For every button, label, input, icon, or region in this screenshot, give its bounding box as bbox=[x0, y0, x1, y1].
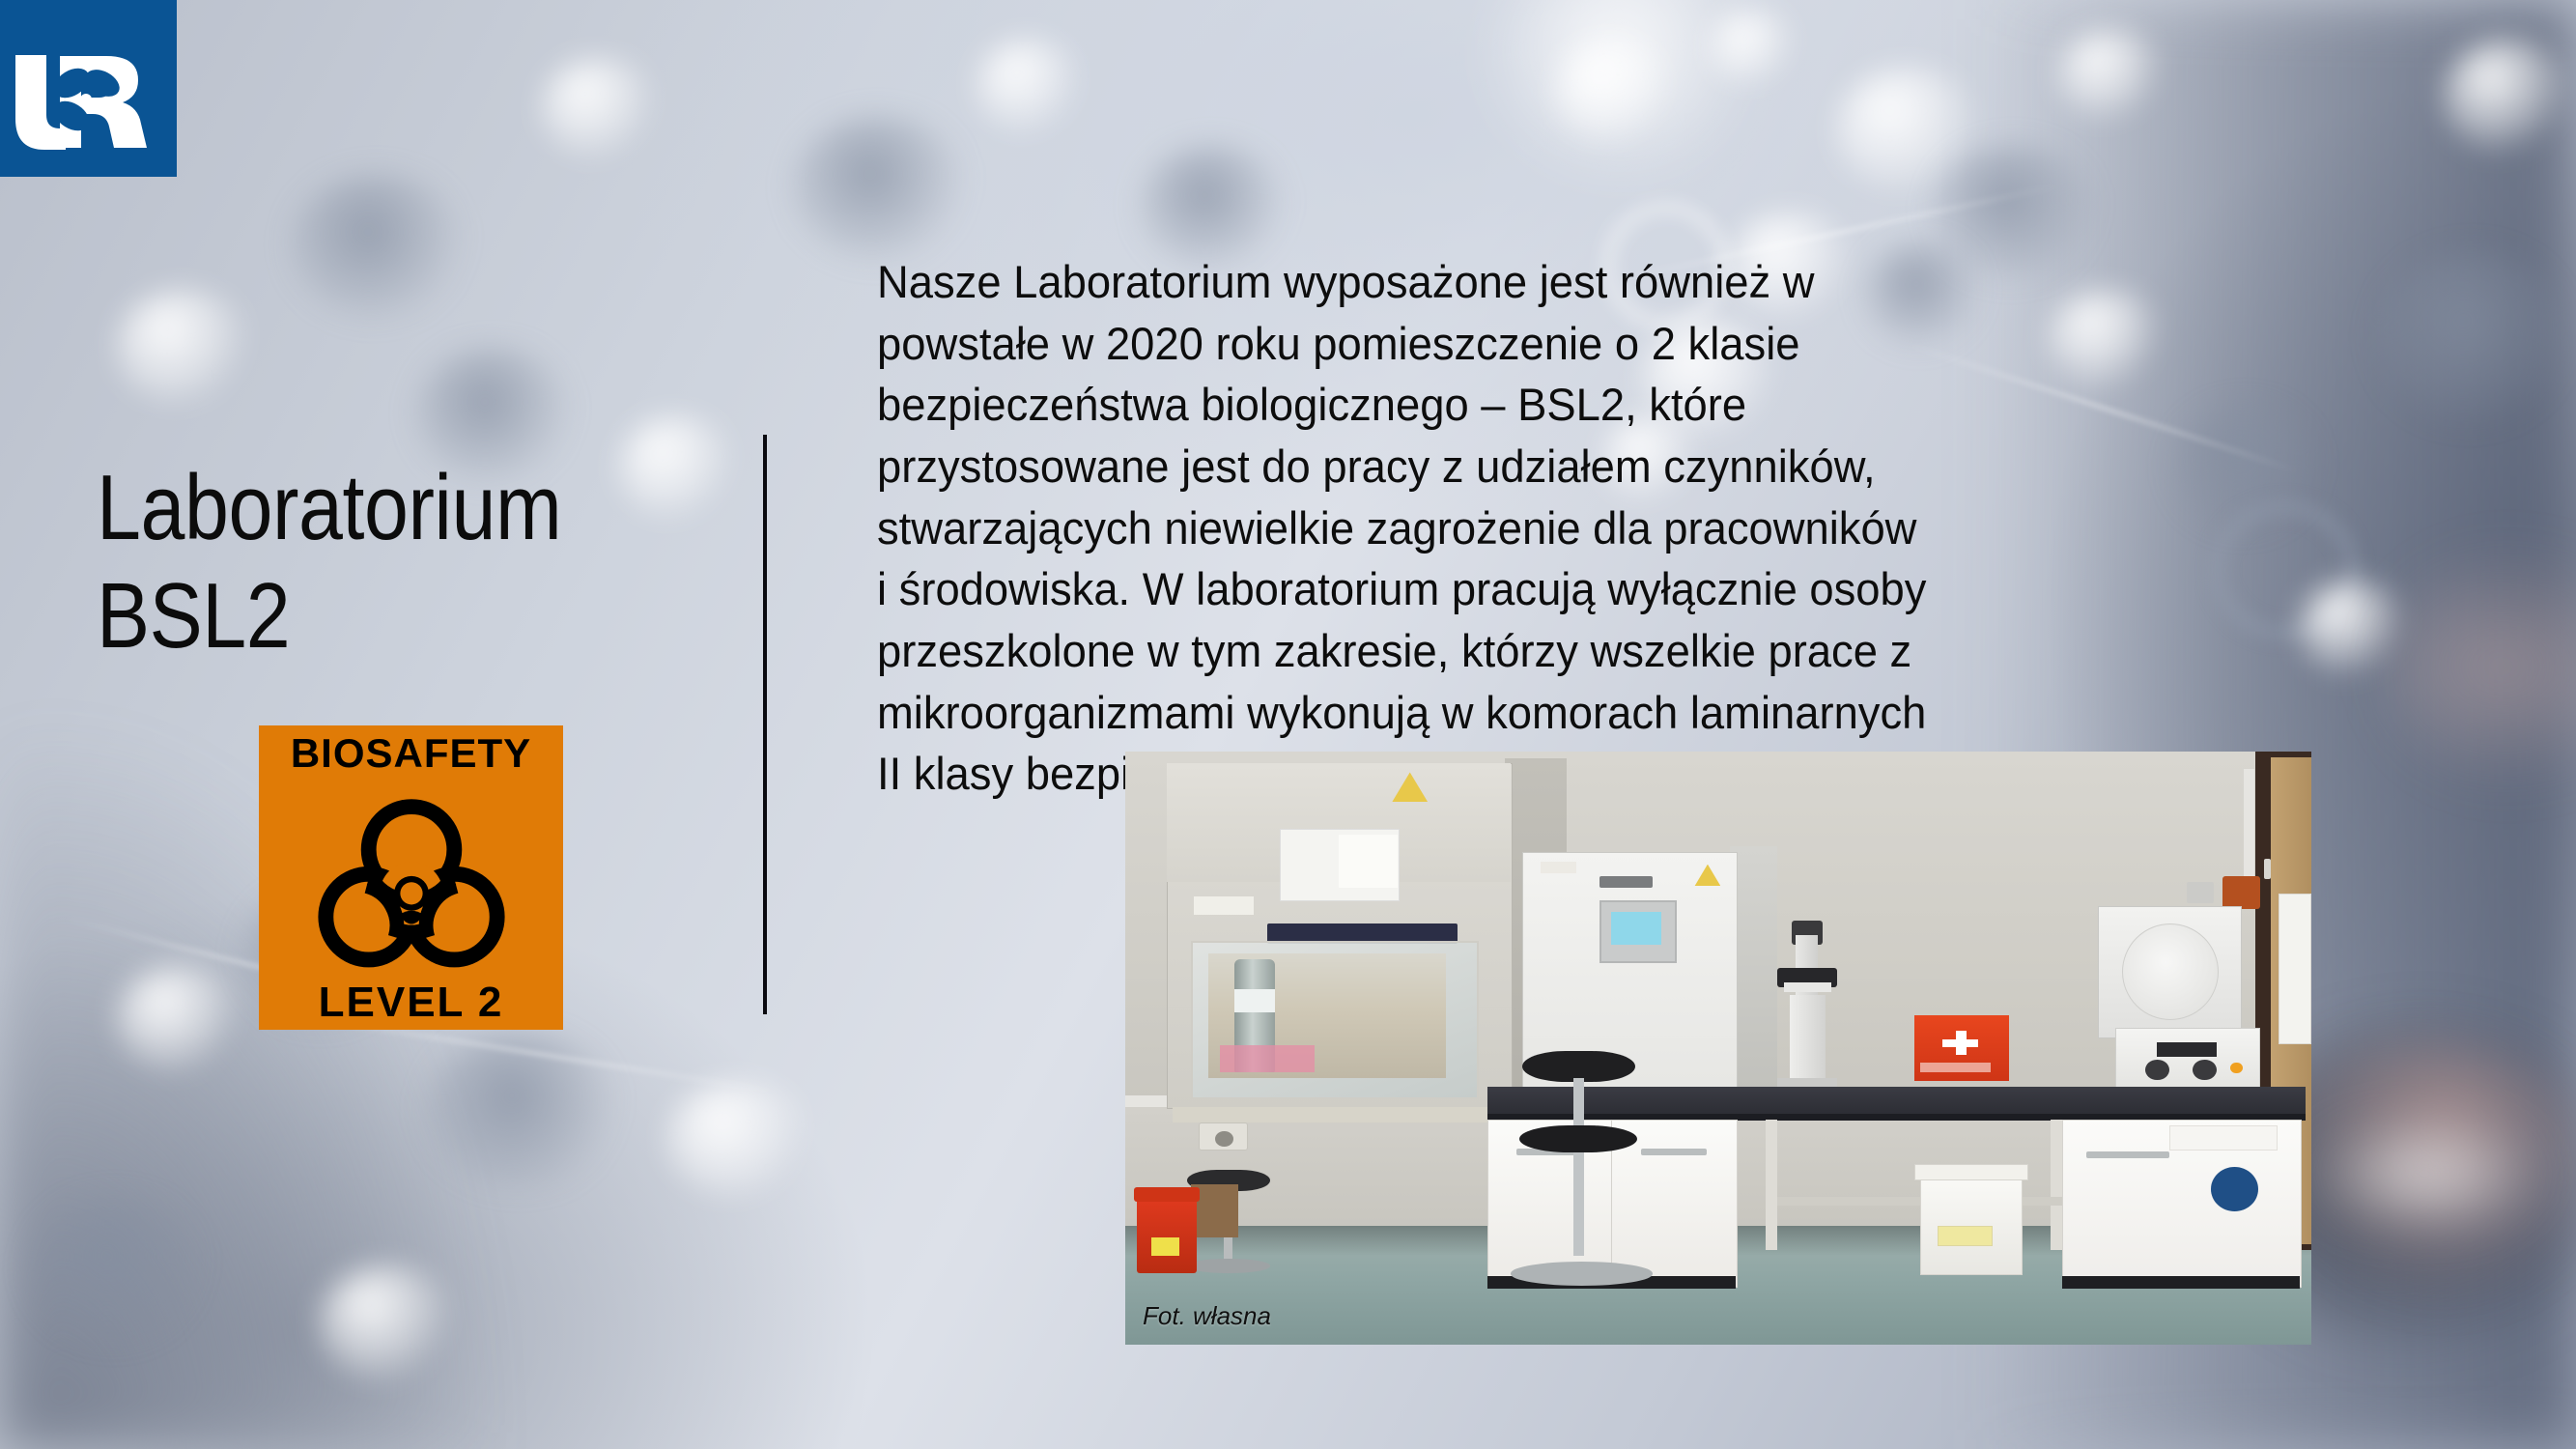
page-title: Laboratorium BSL2 bbox=[97, 454, 715, 671]
biosafety-sign-bottom-label: LEVEL 2 bbox=[319, 981, 504, 1024]
biohazard-icon bbox=[309, 786, 514, 970]
body-paragraph: Nasze Laboratorium wyposażone jest równi… bbox=[877, 251, 1930, 805]
photo-caption: Fot. własna bbox=[1143, 1301, 1271, 1331]
biosafety-level-2-sign: BIOSAFETY LEVEL 2 bbox=[259, 725, 563, 1030]
slide-laboratorium-bsl2: Laboratorium BSL2 BIOSAFETY LEVEL 2 bbox=[0, 0, 2576, 1449]
laboratory-photo: Fot. własna bbox=[1125, 752, 2311, 1345]
page-title-line-1: Laboratorium bbox=[97, 454, 628, 562]
page-title-line-2: BSL2 bbox=[97, 562, 628, 670]
university-logo bbox=[0, 0, 177, 177]
biosafety-sign-top-label: BIOSAFETY bbox=[291, 733, 531, 774]
vertical-divider bbox=[763, 435, 767, 1014]
